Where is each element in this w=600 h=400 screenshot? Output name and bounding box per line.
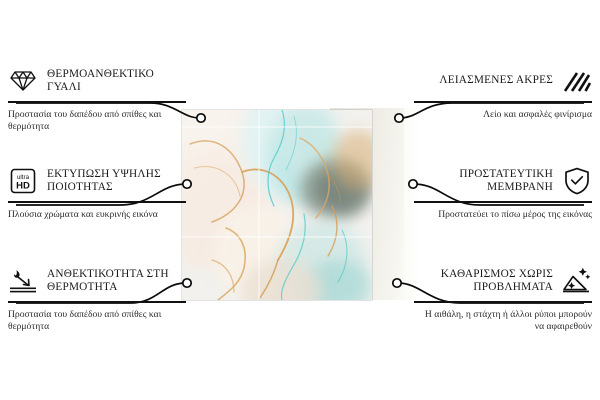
diagonal-stripes-icon (562, 67, 592, 95)
feature-high-quality-print: ultra HD ΕΚΤΥΠΩΣΗ ΥΨΗΛΗΣ ΠΟΙΟΤΗΤΑΣ Πλούσ… (8, 166, 186, 221)
divider (414, 201, 592, 203)
feature-header: ΛΕΙΑΣΜΕΝΕΣ ΑΚΡΕΣ (414, 66, 592, 96)
feature-header: ultra HD ΕΚΤΥΠΩΣΗ ΥΨΗΛΗΣ ΠΟΙΟΤΗΤΑΣ (8, 166, 186, 196)
feature-heat-resistant-glass: ΘΕΡΜΟΑΝΘΕΚΤΙΚΟ ΓΥΑΛΙ Προστασία του δαπέδ… (8, 66, 186, 133)
sparkle-clean-icon (562, 267, 592, 295)
feature-title: ΕΚΤΥΠΩΣΗ ΥΨΗΛΗΣ ΠΟΙΟΤΗΤΑΣ (47, 168, 186, 195)
feature-heat-durability: ΑΝΘΕΚΤΙΚΟΤΗΤΑ ΣΤΗ ΘΕΡΜΟΤΗΤΑ Προστασία το… (8, 266, 186, 333)
divider (414, 101, 592, 103)
divider (8, 301, 186, 303)
feature-description: Προστασία του δαπέδου από σπίθες και θερ… (8, 309, 186, 333)
divider (414, 301, 592, 303)
feature-protective-membrane: ΠΡΟΣΤΑΤΕΥΤΙΚΗ ΜΕΜΒΡΑΝΗ Προστατεύει το πί… (414, 166, 592, 221)
infographic-canvas: ΘΕΡΜΟΑΝΘΕΚΤΙΚΟ ΓΥΑΛΙ Προστασία του δαπέδ… (0, 0, 600, 400)
connector-dot (395, 114, 403, 122)
flame-arrow-surface-icon (8, 267, 38, 295)
feature-description: Προστασία του δαπέδου από σπίθες και θερ… (8, 109, 186, 133)
feature-description: Πλούσια χρώματα και ευκρινής εικόνα (8, 209, 186, 221)
connector-dot (197, 114, 205, 122)
connector-dot (393, 279, 401, 287)
feature-header: ΠΡΟΣΤΑΤΕΥΤΙΚΗ ΜΕΜΒΡΑΝΗ (414, 166, 592, 196)
feature-easy-cleaning: ΚΑΘΑΡΙΣΜΟΣ ΧΩΡΙΣ ΠΡΟΒΛΗΜΑΤΑ Η αιθάλη, η … (414, 266, 592, 333)
feature-description: Η αιθάλη, η στάχτη ή άλλοι ρύποι μπορούν… (414, 309, 592, 333)
feature-title: ΠΡΟΣΤΑΤΕΥΤΙΚΗ ΜΕΜΒΡΑΝΗ (414, 168, 553, 195)
divider (8, 101, 186, 103)
feature-description: Λείο και ασφαλές φινίρισμα (414, 109, 592, 121)
feature-header: ΑΝΘΕΚΤΙΚΟΤΗΤΑ ΣΤΗ ΘΕΡΜΟΤΗΤΑ (8, 266, 186, 296)
feature-title: ΘΕΡΜΟΑΝΘΕΚΤΙΚΟ ΓΥΑΛΙ (47, 68, 186, 95)
feature-header: ΘΕΡΜΟΑΝΘΕΚΤΙΚΟ ΓΥΑΛΙ (8, 66, 186, 96)
feature-polished-edges: ΛΕΙΑΣΜΕΝΕΣ ΑΚΡΕΣ Λείο και ασφαλές φινίρι… (414, 66, 592, 121)
feature-title: ΛΕΙΑΣΜΕΝΕΣ ΑΚΡΕΣ (439, 74, 553, 88)
svg-text:HD: HD (16, 181, 30, 192)
feature-title: ΑΝΘΕΚΤΙΚΟΤΗΤΑ ΣΤΗ ΘΕΡΜΟΤΗΤΑ (47, 268, 186, 295)
feature-title: ΚΑΘΑΡΙΣΜΟΣ ΧΩΡΙΣ ΠΡΟΒΛΗΜΑΤΑ (414, 268, 553, 295)
shield-check-icon (562, 167, 592, 195)
ultra-hd-icon: ultra HD (8, 167, 38, 195)
feature-header: ΚΑΘΑΡΙΣΜΟΣ ΧΩΡΙΣ ΠΡΟΒΛΗΜΑΤΑ (414, 266, 592, 296)
feature-description: Προστατεύει το πίσω μέρος της εικόνας (414, 209, 592, 221)
diamond-icon (8, 67, 38, 95)
divider (8, 201, 186, 203)
